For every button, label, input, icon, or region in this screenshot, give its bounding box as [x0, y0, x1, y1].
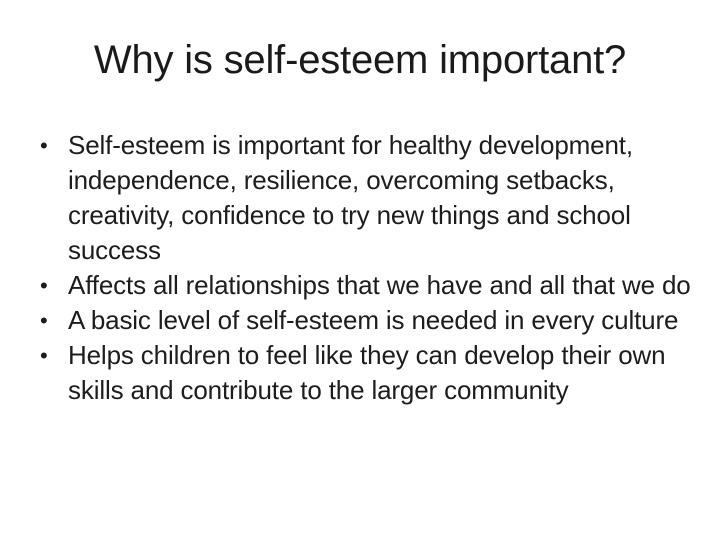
list-item-text: Self-esteem is important for healthy dev…	[68, 128, 698, 268]
bullet-dot-icon: •	[40, 303, 56, 338]
bullet-dot-icon: •	[40, 128, 56, 163]
list-item-text: Helps children to feel like they can dev…	[68, 338, 698, 408]
bullet-dot-icon: •	[40, 268, 56, 303]
bullet-list: • Self-esteem is important for healthy d…	[36, 128, 698, 408]
list-item: • Helps children to feel like they can d…	[36, 338, 698, 408]
list-item: • Affects all relationships that we have…	[36, 268, 698, 303]
slide-canvas: Why is self-esteem important? • Self-est…	[0, 0, 720, 539]
list-item-text: A basic level of self-esteem is needed i…	[68, 303, 698, 338]
list-item: • Self-esteem is important for healthy d…	[36, 128, 698, 268]
list-item: • A basic level of self-esteem is needed…	[36, 303, 698, 338]
bullet-dot-icon: •	[40, 338, 56, 373]
list-item-text: Affects all relationships that we have a…	[68, 268, 698, 303]
page-title: Why is self-esteem important?	[0, 36, 720, 84]
